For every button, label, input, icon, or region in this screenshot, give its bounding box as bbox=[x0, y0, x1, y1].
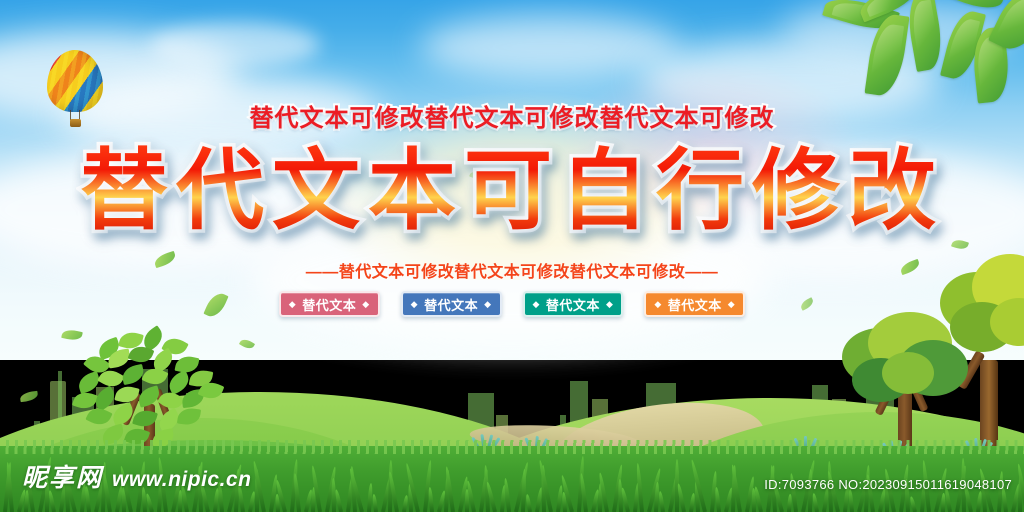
cloud bbox=[420, 15, 680, 79]
grass-blade bbox=[812, 493, 819, 512]
badge-label: 替代文本 bbox=[302, 295, 356, 314]
badge-4[interactable]: ◆替代文本◆ bbox=[644, 291, 745, 317]
badge-3[interactable]: ◆替代文本◆ bbox=[523, 291, 624, 317]
leaf-icon bbox=[76, 371, 102, 394]
leaf-icon bbox=[177, 407, 201, 427]
diamond-icon: ◆ bbox=[362, 300, 369, 309]
leaf-icon bbox=[85, 404, 112, 429]
diamond-icon: ◆ bbox=[654, 300, 661, 309]
badge-label: 替代文本 bbox=[424, 295, 478, 314]
watermark-logo: 昵享网 bbox=[22, 458, 103, 494]
poster-canvas: 替代文本可修改替代文本可修改替代文本可修改 替代文本可自行修改 替代文本可自行修… bbox=[0, 0, 1024, 512]
grass-blade bbox=[372, 494, 378, 512]
badge-row: ◆替代文本◆◆替代文本◆◆替代文本◆◆替代文本◆ bbox=[0, 291, 1024, 317]
cloud bbox=[150, 22, 320, 68]
grass-blade bbox=[658, 491, 665, 512]
watermark: 昵享网 www.nipic.cn bbox=[22, 458, 251, 494]
diamond-icon: ◆ bbox=[484, 300, 491, 309]
badge-1[interactable]: ◆替代文本◆ bbox=[279, 291, 380, 317]
image-id-tag: ID:7093766 NO:20230915011619048107 bbox=[764, 477, 1012, 492]
leaf-cluster-top-right bbox=[814, 0, 1024, 104]
grass-blade bbox=[503, 478, 511, 512]
watermark-url: www.nipic.cn bbox=[112, 468, 251, 492]
grass-blade bbox=[428, 487, 434, 512]
diamond-icon: ◆ bbox=[411, 300, 418, 309]
poster-subtitle-top: 替代文本可修改替代文本可修改替代文本可修改 bbox=[0, 98, 1024, 133]
leaf-icon bbox=[136, 385, 162, 407]
poster-title: 替代文本可自行修改 bbox=[0, 142, 1024, 241]
diamond-icon: ◆ bbox=[533, 300, 540, 309]
poster-tagline: ——替代文本可修改替代文本可修改替代文本可修改—— bbox=[0, 258, 1024, 282]
badge-label: 替代文本 bbox=[546, 295, 600, 314]
tree-canopy bbox=[882, 352, 934, 394]
grass-blade bbox=[848, 489, 854, 512]
diamond-icon: ◆ bbox=[606, 300, 613, 309]
grass-blade bbox=[521, 469, 526, 512]
grass-blade bbox=[714, 487, 721, 512]
grass-blade bbox=[525, 494, 532, 512]
leaf-icon bbox=[120, 364, 145, 385]
badge-2[interactable]: ◆替代文本◆ bbox=[401, 291, 502, 317]
diamond-icon: ◆ bbox=[289, 300, 296, 309]
badge-label: 替代文本 bbox=[668, 295, 722, 314]
grass-blade bbox=[909, 496, 917, 512]
leaf-icon bbox=[903, 0, 946, 72]
diamond-icon: ◆ bbox=[728, 300, 735, 309]
